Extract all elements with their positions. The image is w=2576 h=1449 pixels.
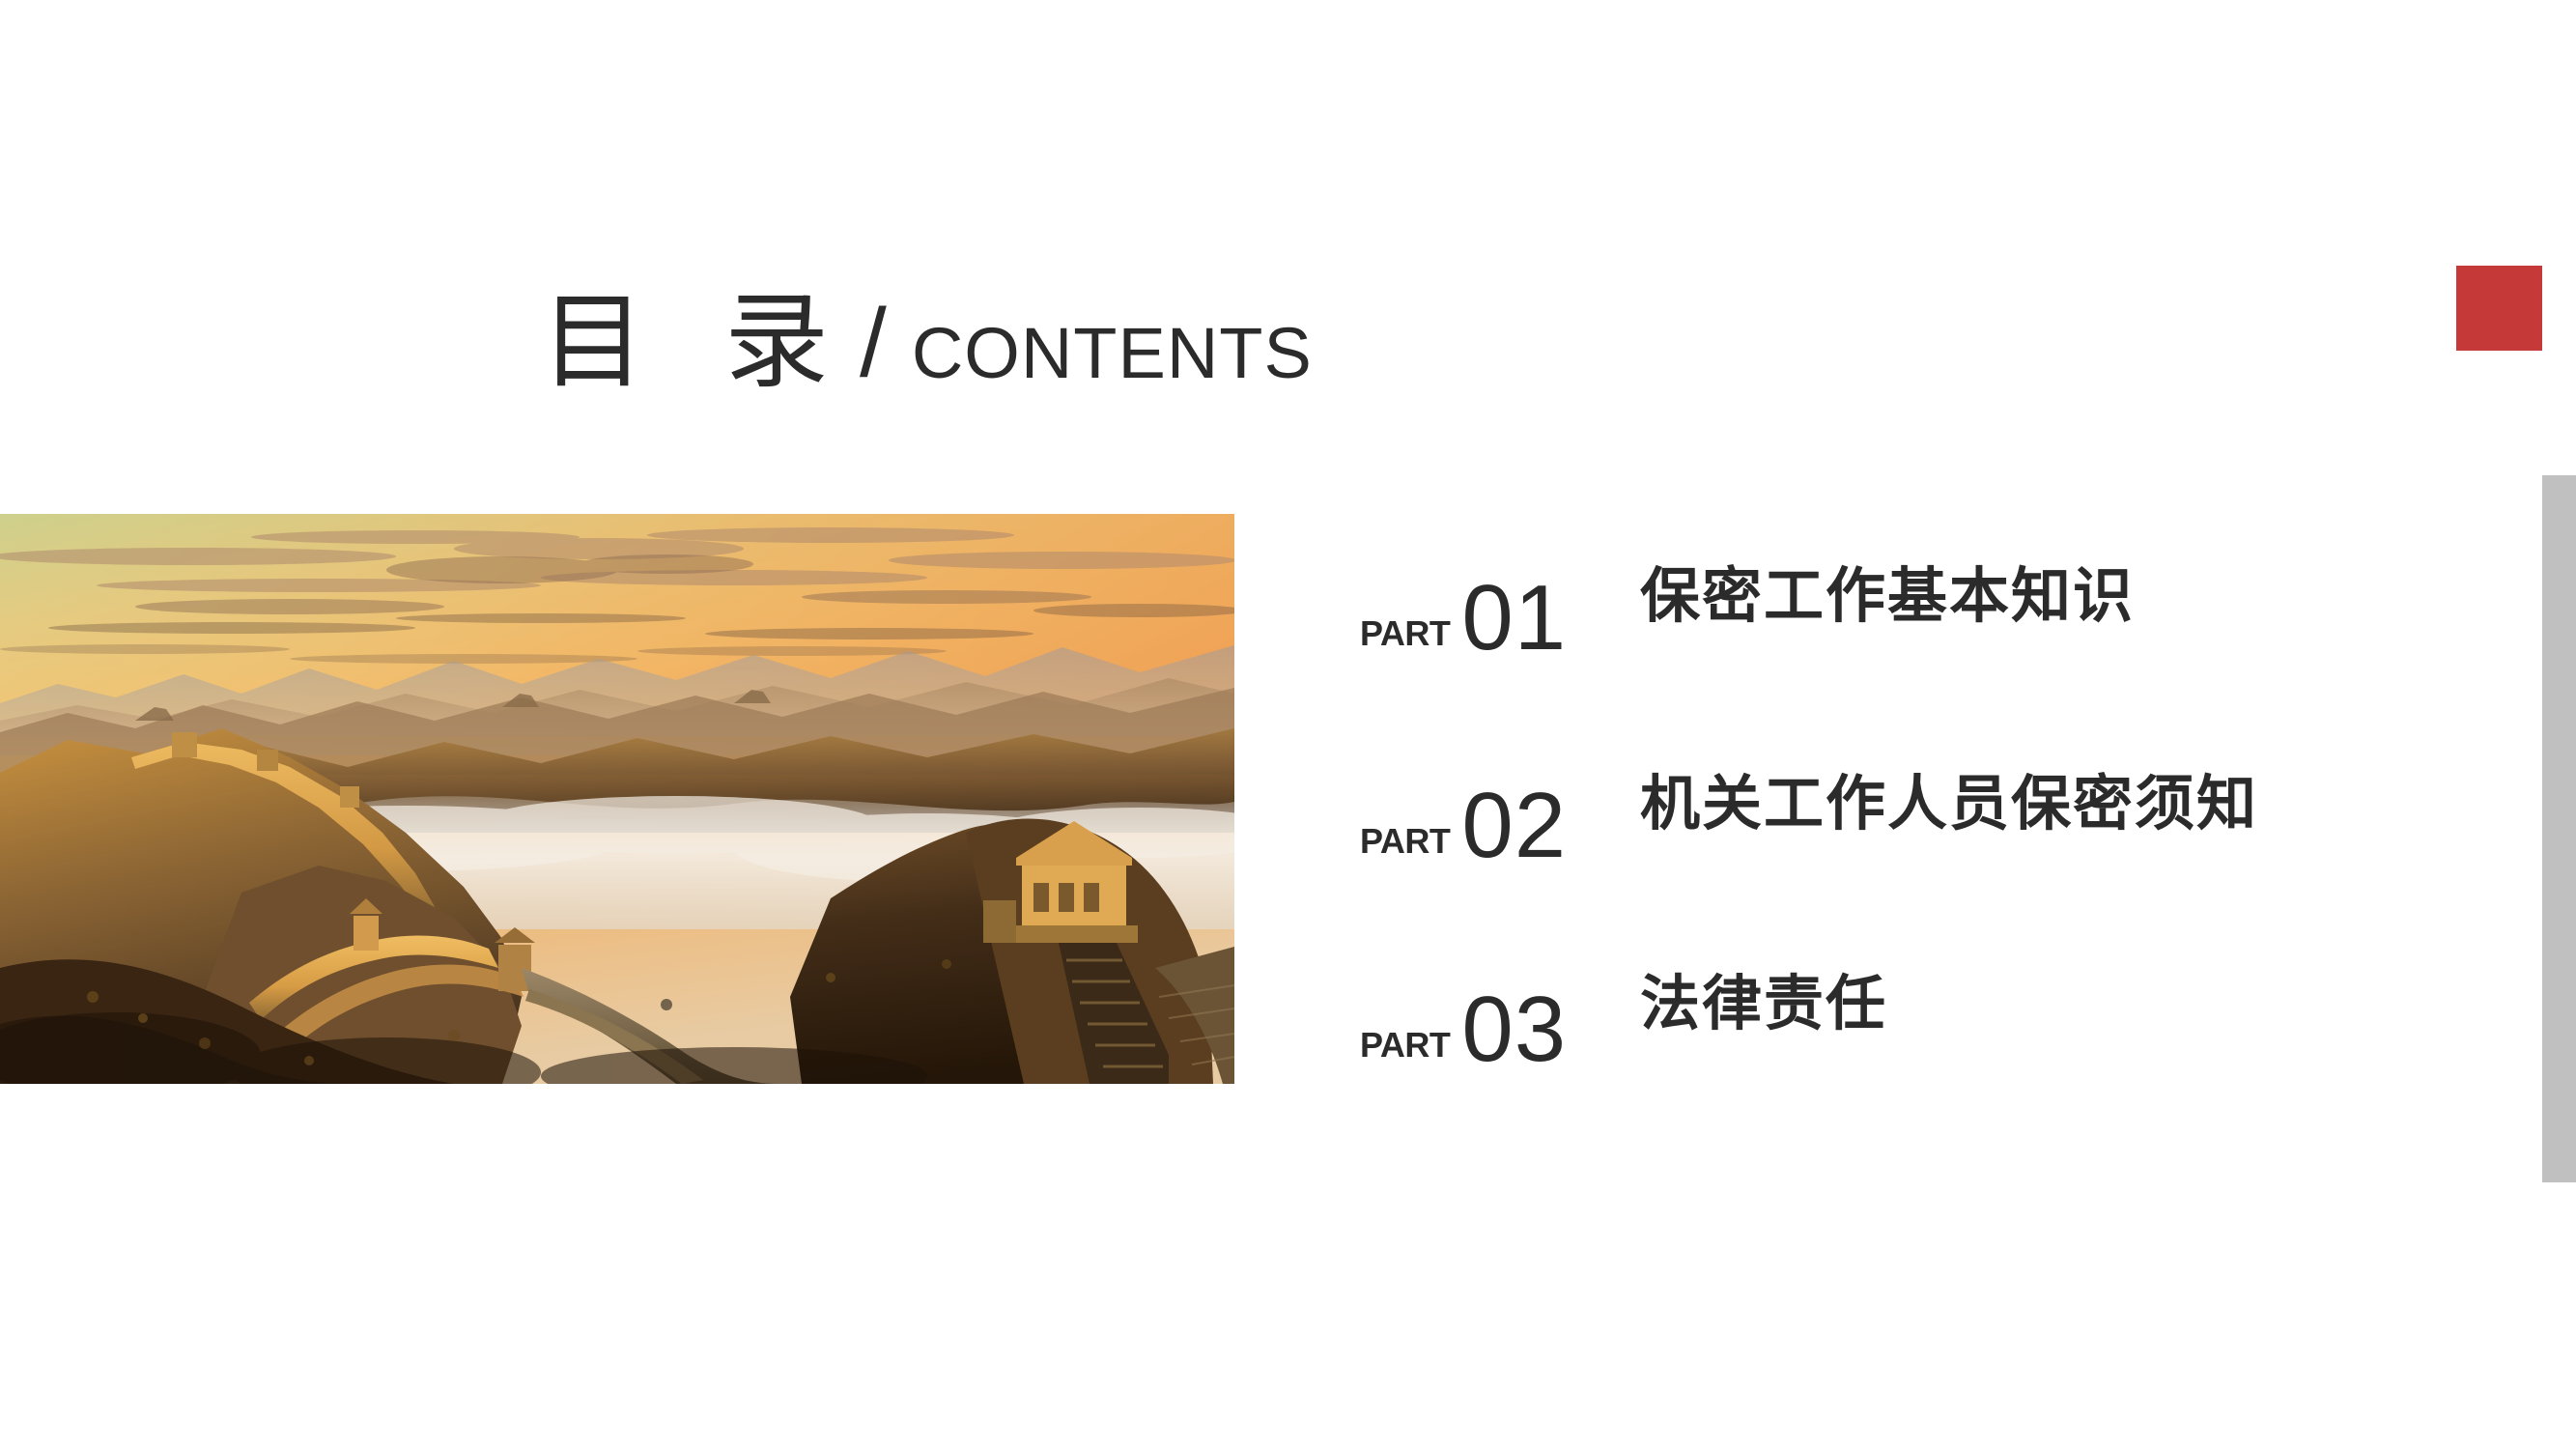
contents-item-title: 保密工作基本知识 bbox=[1640, 567, 2135, 627]
vertical-scrollbar-thumb[interactable] bbox=[2542, 475, 2576, 1182]
part-label: PART bbox=[1360, 1028, 1450, 1063]
contents-item-03[interactable]: PART 03 法律责任 bbox=[1360, 918, 2422, 1111]
contents-item-index: PART 02 bbox=[1360, 780, 1640, 872]
page-title-english: CONTENTS bbox=[912, 318, 1313, 389]
contents-item-index: PART 03 bbox=[1360, 983, 1640, 1076]
page-title: 目 录 / CONTENTS bbox=[541, 290, 1313, 394]
contents-item-index: PART 01 bbox=[1360, 572, 1640, 665]
slide-canvas: 目 录 / CONTENTS bbox=[0, 0, 2576, 1449]
page-title-chinese: 目 录 bbox=[541, 290, 854, 394]
contents-item-02[interactable]: PART 02 机关工作人员保密须知 bbox=[1360, 710, 2422, 918]
great-wall-photo bbox=[0, 514, 1234, 1084]
title-separator-slash: / bbox=[860, 295, 887, 391]
contents-item-title: 法律责任 bbox=[1640, 975, 1887, 1035]
contents-item-01[interactable]: PART 01 保密工作基本知识 bbox=[1360, 502, 2422, 710]
part-label: PART bbox=[1360, 616, 1450, 651]
part-number: 02 bbox=[1461, 780, 1567, 872]
contents-item-title: 机关工作人员保密须知 bbox=[1640, 775, 2258, 835]
contents-list: PART 01 保密工作基本知识 PART 02 机关工作人员保密须知 PART… bbox=[1360, 502, 2422, 1111]
part-number: 03 bbox=[1461, 983, 1567, 1076]
part-number: 01 bbox=[1461, 572, 1567, 665]
part-label: PART bbox=[1360, 824, 1450, 859]
